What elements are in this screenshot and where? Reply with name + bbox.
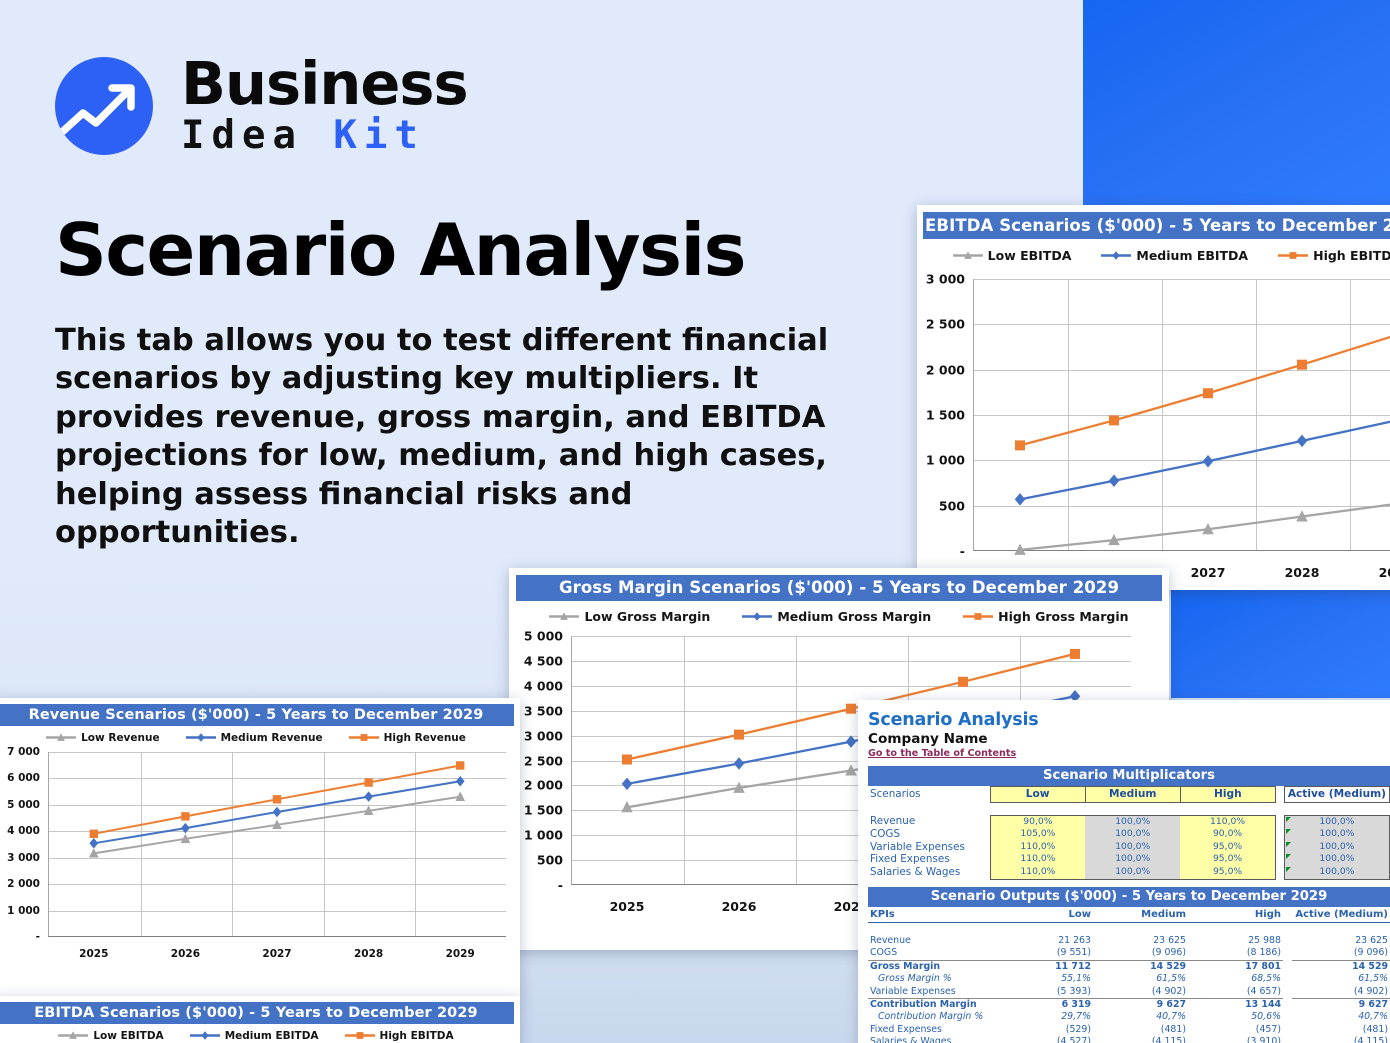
cell-high[interactable]: 110,0%: [1180, 815, 1275, 828]
kpi-medium: 9 627: [1093, 998, 1188, 1011]
column-header-high: High: [1180, 787, 1275, 803]
brand-name-line1: Business: [181, 55, 468, 113]
chart-legend: Low EBITDA Medium EBITDA High EBITDA: [917, 248, 1390, 263]
row-label: COGS: [868, 828, 990, 841]
kpi-spacer: [1283, 960, 1292, 973]
cell-spacer: [1275, 815, 1284, 828]
table-of-contents-link[interactable]: Go to the Table of Contents: [868, 748, 1390, 759]
chart-series-layer: [917, 279, 1390, 553]
kpi-active: (4 902): [1292, 986, 1390, 999]
kpi-header-active: Active (Medium): [1292, 909, 1390, 923]
kpi-spacer: [1283, 998, 1292, 1011]
legend-label: High Revenue: [384, 732, 466, 744]
chart-card-revenue: Revenue Scenarios ($'000) - 5 Years to D…: [0, 698, 520, 998]
legend-item-1[interactable]: Medium Revenue: [186, 731, 323, 744]
kpi-active: 61,5%: [1292, 973, 1390, 985]
table-row: Salaries & Wages (4 527) (4 115) (3 910)…: [868, 1036, 1390, 1043]
legend-label: Medium EBITDA: [1136, 248, 1248, 263]
kpi-spacer: [1283, 947, 1292, 960]
cell-medium[interactable]: 100,0%: [1085, 853, 1180, 866]
scenario-analysis-sheet: Scenario Analysis Company Name Go to the…: [858, 700, 1390, 1043]
kpi-label: Contribution Margin %: [868, 1011, 998, 1023]
x-tick-label: 2026: [171, 948, 200, 960]
scenario-multiplicators-band: Scenario Multiplicators: [868, 766, 1390, 786]
legend-label: Low EBITDA: [93, 1030, 163, 1042]
kpi-medium: 23 625: [1093, 935, 1188, 947]
brand-name-line2: Idea Kit: [181, 115, 468, 158]
column-header-medium: Medium: [1085, 787, 1180, 803]
decorative-blue-block-middle: [1171, 590, 1390, 698]
legend-label: Medium Gross Margin: [777, 609, 931, 624]
table-row: Variable Expenses 110,0% 100,0% 95,0% 10…: [868, 841, 1390, 854]
kpi-label: Salaries & Wages: [868, 1036, 998, 1043]
kpi-label: Fixed Expenses: [868, 1024, 998, 1036]
kpi-header-medium: Medium: [1093, 909, 1188, 923]
legend-label: Low Revenue: [81, 732, 160, 744]
legend-item-0[interactable]: Low Revenue: [46, 731, 160, 744]
page-title: Scenario Analysis: [55, 208, 745, 292]
comment-flag-icon: [1286, 854, 1291, 859]
x-tick-label: 2029: [1379, 565, 1390, 580]
chart-card-ebitda-top: EBITDA Scenarios ($'000) - 5 Years to De…: [917, 205, 1390, 590]
row-label: Fixed Expenses: [868, 853, 990, 866]
column-header-active: Active (Medium): [1284, 787, 1389, 803]
x-tick-label: 2028: [1285, 565, 1320, 580]
chart-legend: Low Gross Margin Medium Gross Margin Hig…: [509, 609, 1169, 624]
cell-high[interactable]: 95,0%: [1180, 866, 1275, 879]
kpi-medium: 40,7%: [1093, 1011, 1188, 1023]
kpi-label: Revenue: [868, 935, 998, 947]
kpi-medium: 61,5%: [1093, 973, 1188, 985]
kpi-spacer: [1283, 1011, 1292, 1023]
cell-active: 100,0%: [1284, 828, 1389, 841]
kpi-low: 21 263: [998, 935, 1093, 947]
cell-active: 100,0%: [1284, 815, 1389, 828]
kpi-header-label: KPIs: [868, 909, 998, 923]
chart-card-ebitda-bottom: EBITDA Scenarios ($'000) - 5 Years to De…: [0, 996, 520, 1043]
cell-low[interactable]: 110,0%: [990, 853, 1085, 866]
legend-item-1[interactable]: Medium EBITDA: [1101, 248, 1248, 263]
comment-flag-icon: [1286, 867, 1291, 872]
cell-medium[interactable]: 100,0%: [1085, 828, 1180, 841]
cell-high[interactable]: 95,0%: [1180, 841, 1275, 854]
cell-spacer: [1275, 853, 1284, 866]
kpi-low: (5 393): [998, 986, 1093, 999]
legend-item-2[interactable]: High Gross Margin: [963, 609, 1128, 624]
kpi-high: 68,5%: [1188, 973, 1283, 985]
legend-item-0[interactable]: Low Gross Margin: [549, 609, 710, 624]
kpi-active: 23 625: [1292, 935, 1390, 947]
legend-item-1[interactable]: Medium Gross Margin: [742, 609, 931, 624]
legend-item-2[interactable]: High EBITDA: [345, 1029, 454, 1042]
legend-item-0[interactable]: Low EBITDA: [953, 248, 1072, 263]
table-row: COGS 105,0% 100,0% 90,0% 100,0%: [868, 828, 1390, 841]
table-row: Gross Margin % 55,1% 61,5% 68,5% 61,5%: [868, 973, 1390, 985]
row-label: Revenue: [868, 815, 990, 828]
cell-low[interactable]: 110,0%: [990, 841, 1085, 854]
kpi-gap-row: [868, 923, 1390, 935]
kpi-label: COGS: [868, 947, 998, 960]
kpi-low: (9 551): [998, 947, 1093, 960]
kpi-spacer: [1283, 935, 1292, 947]
kpi-spacer: [1283, 1036, 1292, 1043]
sheet-title: Scenario Analysis: [868, 710, 1390, 730]
kpi-spacer: [1283, 973, 1292, 985]
chart-plot-area: -1 0002 0003 0004 0005 0006 0007 0002025…: [0, 752, 520, 975]
column-header-low: Low: [990, 787, 1085, 803]
chart-series-layer: [0, 752, 520, 939]
chart-title: Gross Margin Scenarios ($'000) - 5 Years…: [516, 575, 1162, 601]
chart-legend: Low Revenue Medium Revenue High Revenue: [0, 731, 520, 744]
x-tick-label: 2027: [1191, 565, 1226, 580]
kpi-medium: 14 529: [1093, 960, 1188, 973]
scenario-outputs-band: Scenario Outputs ($'000) - 5 Years to De…: [868, 887, 1390, 907]
comment-flag-icon: [1286, 842, 1291, 847]
row-label: Variable Expenses: [868, 841, 990, 854]
kpi-spacer: [1283, 1024, 1292, 1036]
brand-word-kit: Kit: [333, 113, 424, 158]
cell-active: 100,0%: [1284, 866, 1389, 879]
row-label: Salaries & Wages: [868, 866, 990, 879]
cell-active: 100,0%: [1284, 841, 1389, 854]
legend-label: Low EBITDA: [988, 248, 1072, 263]
cell-spacer: [1275, 828, 1284, 841]
cell-low[interactable]: 110,0%: [990, 866, 1085, 879]
legend-label: High Gross Margin: [998, 609, 1128, 624]
table-row: Gross Margin 11 712 14 529 17 801 14 529: [868, 960, 1390, 973]
kpi-active: (9 096): [1292, 947, 1390, 960]
page-description: This tab allows you to test different fi…: [55, 322, 855, 553]
kpi-header-low: Low: [998, 909, 1093, 923]
kpi-low: (4 527): [998, 1036, 1093, 1043]
column-spacer: [1275, 787, 1284, 803]
cell-low[interactable]: 105,0%: [990, 828, 1085, 841]
kpi-low: 55,1%: [998, 973, 1093, 985]
x-tick-label: 2029: [446, 948, 475, 960]
x-tick-label: 2028: [354, 948, 383, 960]
cell-medium[interactable]: 100,0%: [1085, 866, 1180, 879]
chart-plot-area: -5001 0001 5002 0002 5003 00020252026202…: [917, 279, 1390, 590]
kpi-high: (8 186): [1188, 947, 1283, 960]
kpi-high: 17 801: [1188, 960, 1283, 973]
legend-label: High EBITDA: [380, 1030, 454, 1042]
cell-high[interactable]: 95,0%: [1180, 853, 1275, 866]
multiplicators-header-row: ScenariosLowMediumHigh Active (Medium): [868, 787, 1390, 803]
kpi-header-high: High: [1188, 909, 1283, 923]
cell-spacer: [1275, 841, 1284, 854]
kpi-active: (481): [1292, 1024, 1390, 1036]
series-line-0: [1020, 504, 1390, 550]
kpi-medium: (4 115): [1093, 1036, 1188, 1043]
kpi-label: Contribution Margin: [868, 998, 998, 1011]
chart-title: Revenue Scenarios ($'000) - 5 Years to D…: [0, 704, 514, 726]
kpi-active: 14 529: [1292, 960, 1390, 973]
kpi-label: Variable Expenses: [868, 986, 998, 999]
chart-legend: Low EBITDA Medium EBITDA High EBITDA: [0, 1029, 520, 1042]
sheet-company-name: Company Name: [868, 731, 1390, 747]
legend-label: Medium EBITDA: [225, 1030, 319, 1042]
kpi-low: 29,7%: [998, 1011, 1093, 1023]
brand-logo: Business Idea Kit: [55, 55, 468, 158]
table-row: Salaries & Wages 110,0% 100,0% 95,0% 100…: [868, 866, 1390, 879]
kpi-low: (529): [998, 1024, 1093, 1036]
kpi-spacer: [1283, 986, 1292, 999]
kpi-high: 50,6%: [1188, 1011, 1283, 1023]
kpi-active: (4 115): [1292, 1036, 1390, 1043]
x-tick-label: 2025: [610, 899, 645, 914]
kpi-high: (4 657): [1188, 986, 1283, 999]
kpi-medium: (481): [1093, 1024, 1188, 1036]
table-row: Contribution Margin 6 319 9 627 13 144 9…: [868, 998, 1390, 1011]
cell-medium[interactable]: 100,0%: [1085, 815, 1180, 828]
multiplicators-gap-row: [868, 803, 1390, 816]
legend-label: Low Gross Margin: [584, 609, 710, 624]
kpi-label: Gross Margin %: [868, 973, 998, 985]
kpi-active: 9 627: [1292, 998, 1390, 1011]
kpi-medium: (4 902): [1093, 986, 1188, 999]
kpi-high: (3 910): [1188, 1036, 1283, 1043]
scenario-outputs-table: KPIs Low Medium High Active (Medium) Rev…: [868, 909, 1390, 1043]
table-row: Variable Expenses (5 393) (4 902) (4 657…: [868, 986, 1390, 999]
cell-medium[interactable]: 100,0%: [1085, 841, 1180, 854]
table-row: Fixed Expenses 110,0% 100,0% 95,0% 100,0…: [868, 853, 1390, 866]
table-row: Revenue 21 263 23 625 25 988 23 625: [868, 935, 1390, 947]
cell-low[interactable]: 90,0%: [990, 815, 1085, 828]
cell-active: 100,0%: [1284, 853, 1389, 866]
kpi-high: 25 988: [1188, 935, 1283, 947]
chart-title: EBITDA Scenarios ($'000) - 5 Years to De…: [923, 212, 1390, 239]
kpi-active: 40,7%: [1292, 1011, 1390, 1023]
legend-item-0[interactable]: Low EBITDA: [58, 1029, 163, 1042]
scenarios-label: Scenarios: [868, 787, 990, 803]
legend-label: Medium Revenue: [221, 732, 323, 744]
growth-arrow-icon: [55, 57, 153, 155]
x-tick-label: 2027: [262, 948, 291, 960]
table-row: Contribution Margin % 29,7% 40,7% 50,6% …: [868, 1011, 1390, 1023]
table-row: COGS (9 551) (9 096) (8 186) (9 096): [868, 947, 1390, 960]
legend-item-2[interactable]: High EBITDA: [1278, 248, 1390, 263]
x-tick-label: 2025: [79, 948, 108, 960]
table-row: Fixed Expenses (529) (481) (457) (481): [868, 1024, 1390, 1036]
kpi-low: 6 319: [998, 998, 1093, 1011]
kpi-header-row: KPIs Low Medium High Active (Medium): [868, 909, 1390, 923]
chart-title: EBITDA Scenarios ($'000) - 5 Years to De…: [0, 1002, 514, 1024]
cell-spacer: [1275, 866, 1284, 879]
cell-high[interactable]: 90,0%: [1180, 828, 1275, 841]
decorative-blue-block-top: [1083, 0, 1390, 205]
kpi-medium: (9 096): [1093, 947, 1188, 960]
legend-item-2[interactable]: High Revenue: [349, 731, 466, 744]
legend-item-1[interactable]: Medium EBITDA: [190, 1029, 319, 1042]
table-row: Revenue 90,0% 100,0% 110,0% 100,0%: [868, 815, 1390, 828]
x-tick-label: 2026: [722, 899, 757, 914]
kpi-header-spacer: [1283, 909, 1292, 923]
kpi-label: Gross Margin: [868, 960, 998, 973]
kpi-low: 11 712: [998, 960, 1093, 973]
brand-word-idea: Idea: [181, 113, 303, 158]
comment-flag-icon: [1286, 817, 1291, 822]
legend-label: High EBITDA: [1313, 248, 1390, 263]
kpi-high: (457): [1188, 1024, 1283, 1036]
scenario-multiplicators-table: ScenariosLowMediumHigh Active (Medium) R…: [868, 786, 1390, 880]
kpi-high: 13 144: [1188, 998, 1283, 1011]
comment-flag-icon: [1286, 829, 1291, 834]
